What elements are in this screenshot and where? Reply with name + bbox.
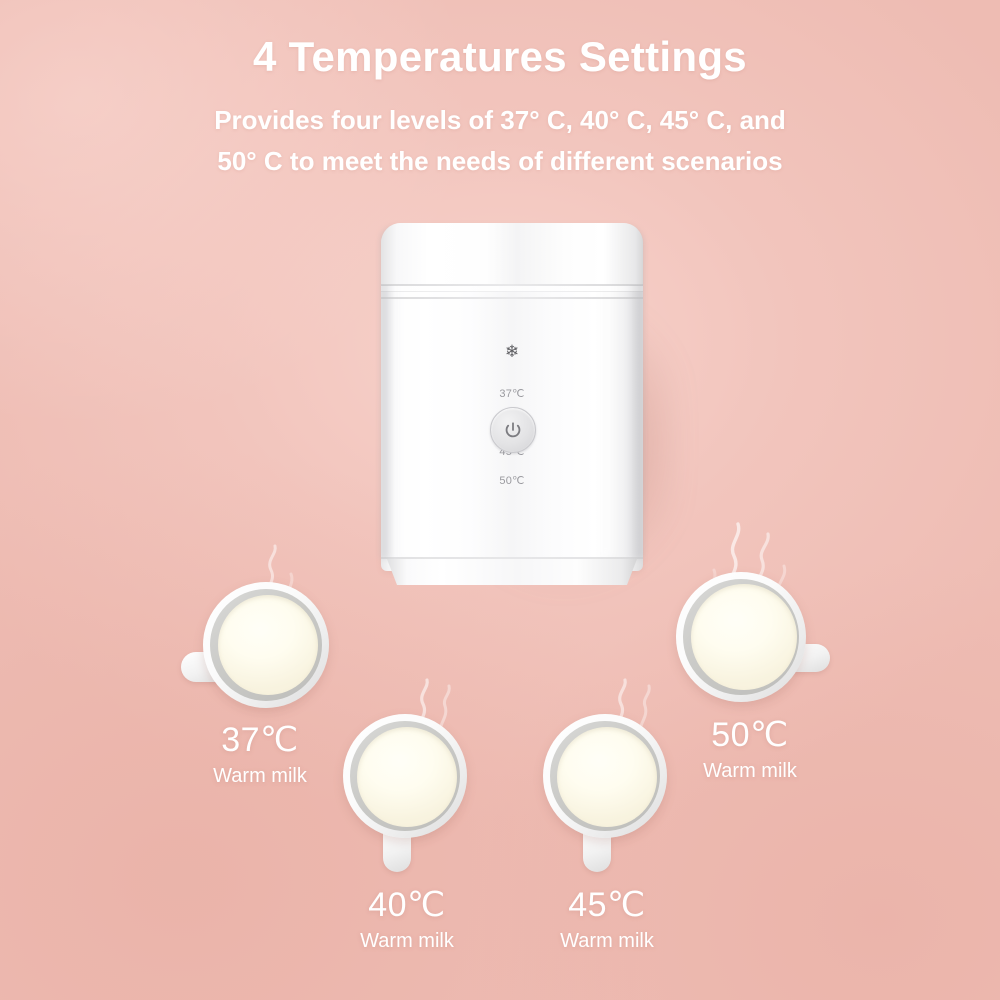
- device-lid[interactable]: [381, 223, 643, 285]
- power-icon: [504, 421, 522, 439]
- cup-45-caption: Warm milk: [497, 926, 717, 956]
- cup-45-label: 45℃ Warm milk: [497, 888, 717, 956]
- milk-surface: [218, 595, 318, 695]
- cup-45-temperature: 45℃: [497, 888, 717, 924]
- milk-surface: [691, 584, 797, 690]
- device-base-seam: [381, 557, 643, 559]
- cup-40-temperature: 40℃: [297, 888, 517, 924]
- milk-warmer-device: ❄ 37℃ 40℃ 45℃ 50℃: [381, 223, 643, 585]
- cup-50: [668, 568, 828, 718]
- cup-40-label: 40℃ Warm milk: [297, 888, 517, 956]
- subtitle-line-1: Provides four levels of 37° C, 40° C, 45…: [150, 100, 850, 141]
- milk-surface: [557, 727, 657, 827]
- lid-seam-bottom: [381, 297, 643, 299]
- header-block: 4 Temperatures Settings Provides four le…: [0, 36, 1000, 182]
- cup-37: [185, 578, 335, 723]
- cup-40-caption: Warm milk: [297, 926, 517, 956]
- device-base: [387, 559, 637, 585]
- snowflake-icon[interactable]: ❄: [381, 343, 643, 361]
- lid-seam-middle: [381, 291, 643, 292]
- power-button[interactable]: [490, 407, 536, 453]
- cup-45: [533, 712, 681, 872]
- subtitle-line-2: 50° C to meet the needs of different sce…: [150, 141, 850, 182]
- temp-step-50[interactable]: 50℃: [381, 474, 643, 488]
- milk-surface: [357, 727, 457, 827]
- page-title: 4 Temperatures Settings: [0, 36, 1000, 78]
- page-subtitle: Provides four levels of 37° C, 40° C, 45…: [150, 100, 850, 182]
- temp-step-37[interactable]: 37℃: [381, 387, 643, 401]
- device-body: ❄ 37℃ 40℃ 45℃ 50℃: [381, 223, 643, 571]
- cup-40: [333, 712, 481, 872]
- product-feature-image: 4 Temperatures Settings Provides four le…: [0, 0, 1000, 1000]
